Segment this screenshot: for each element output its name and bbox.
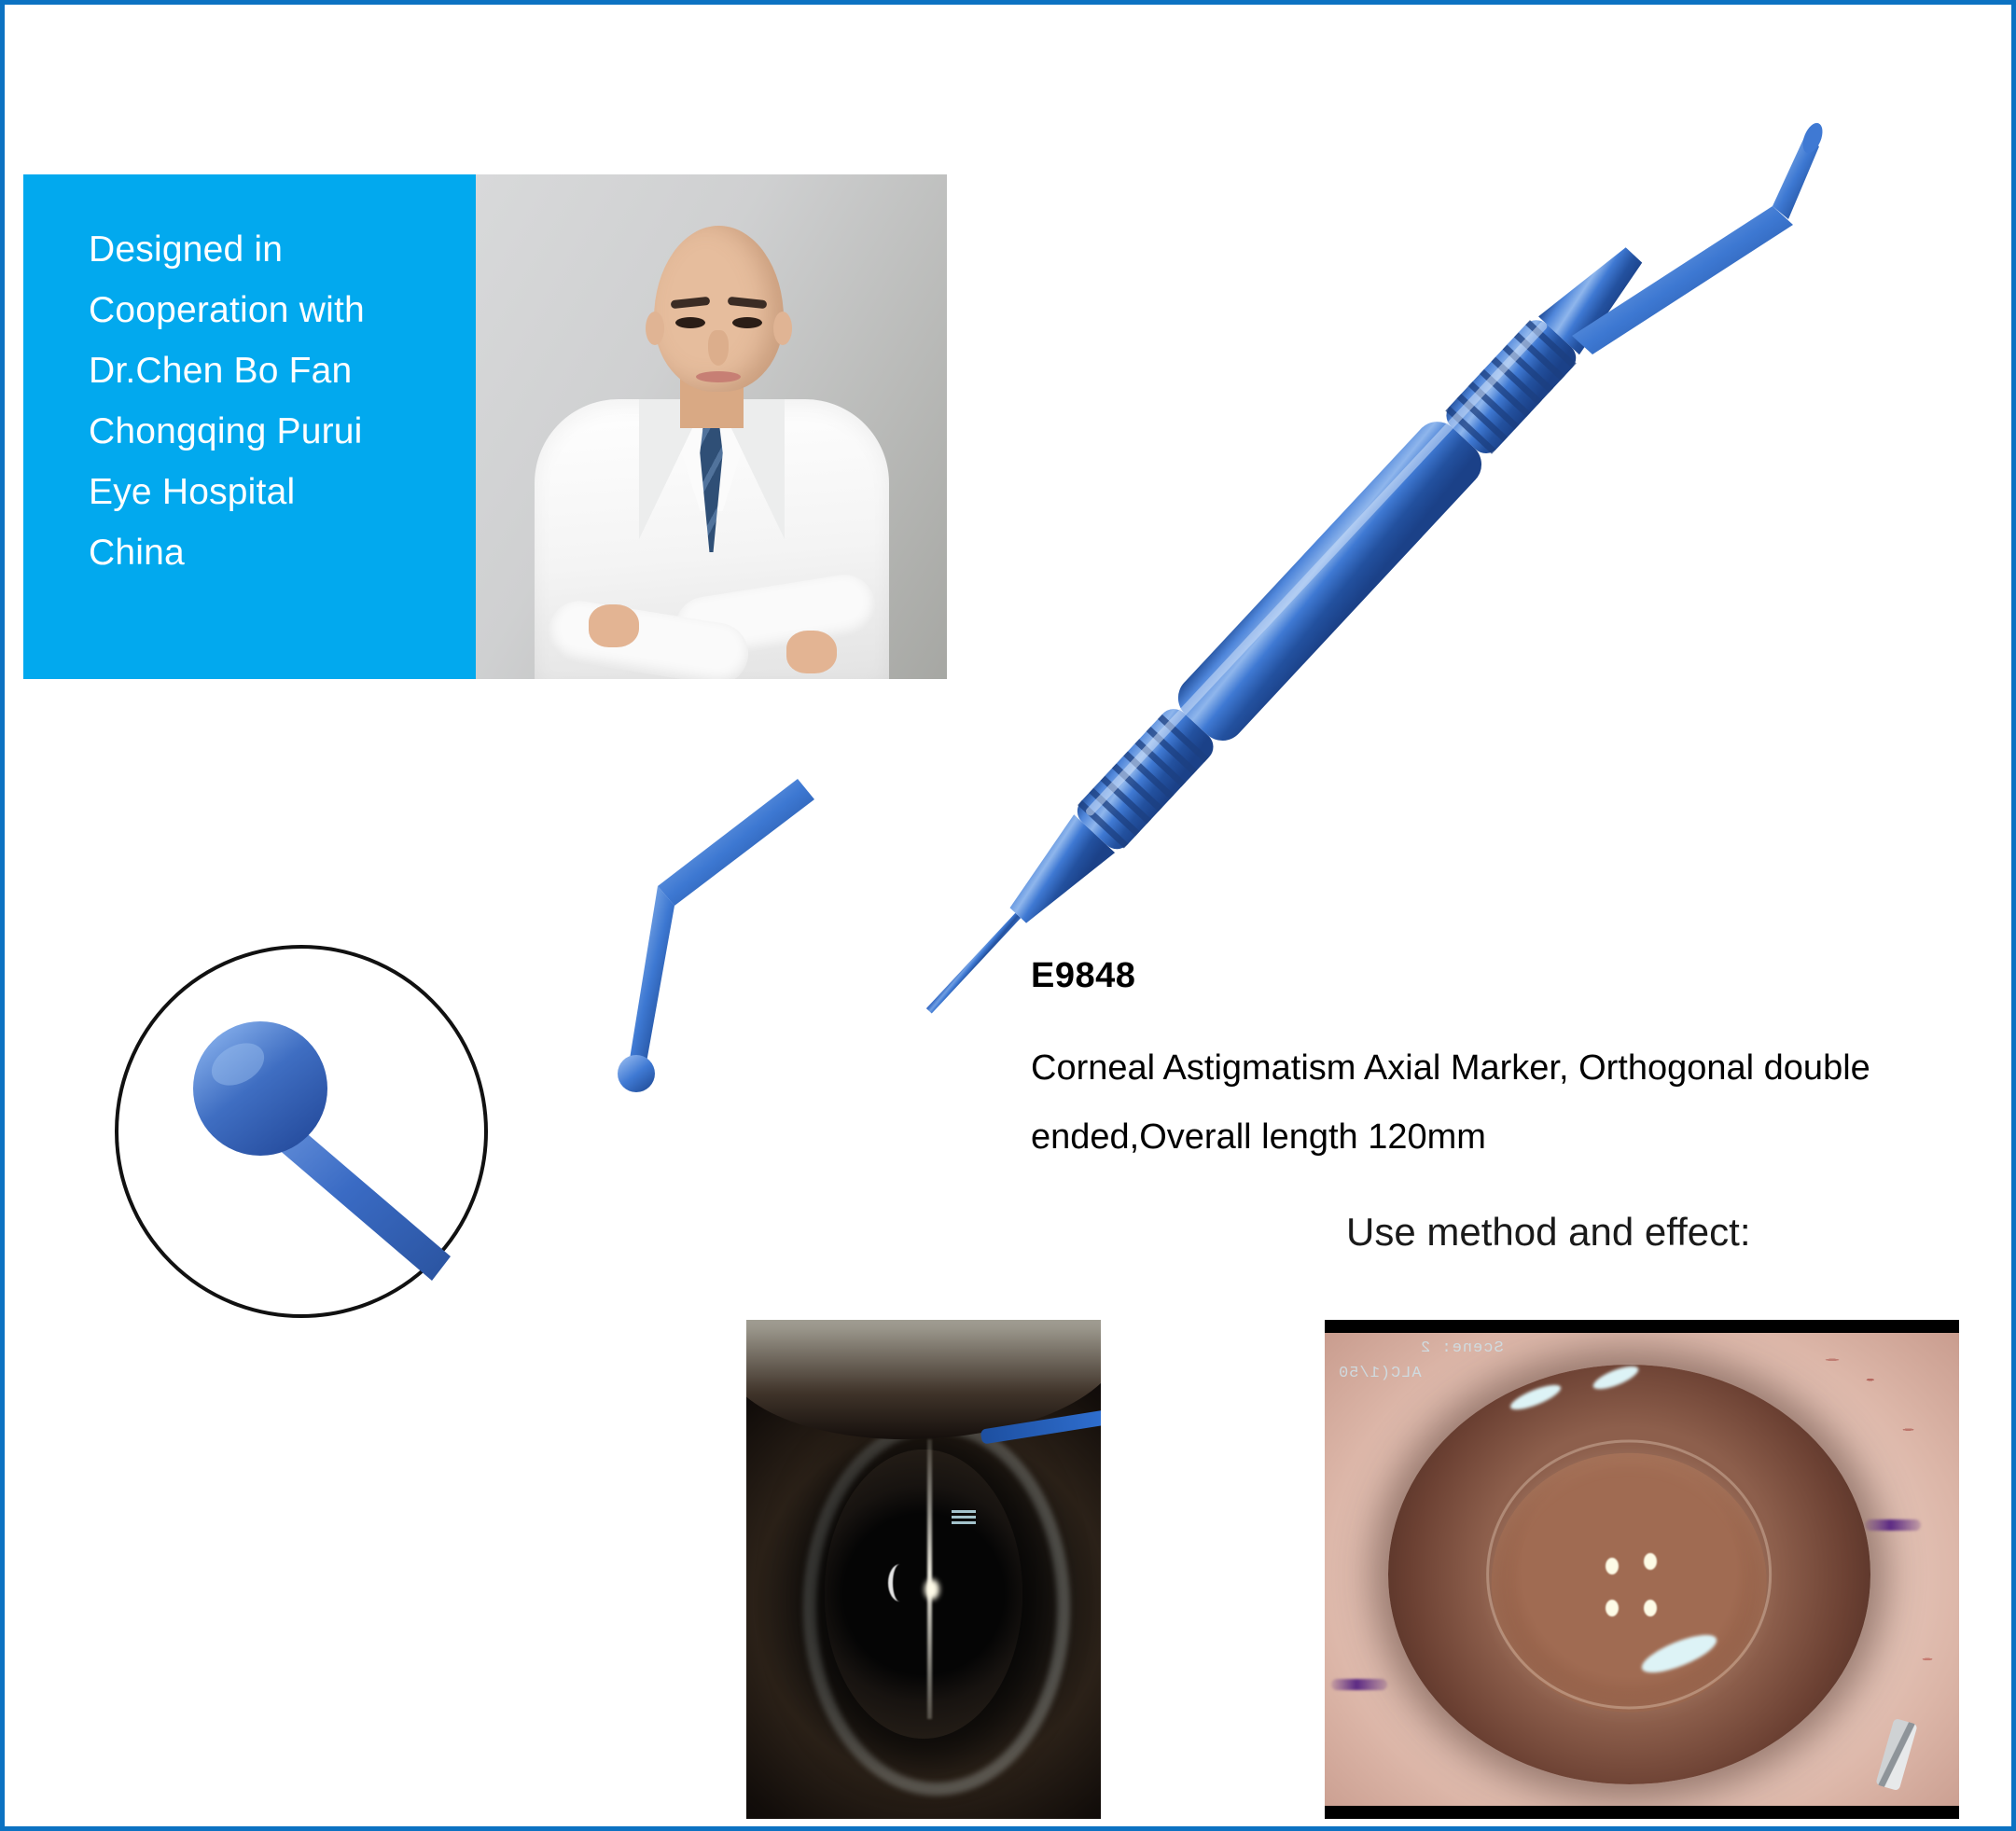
product-code: E9848 [1031, 956, 1982, 996]
credit-line-6: China [89, 522, 476, 583]
surgical-photo-slit-lamp [746, 1320, 1101, 1819]
microscope-eye-background: Scene: 2 ALC(1/50 [1325, 1320, 1959, 1819]
tip-detail-svg [118, 949, 484, 1314]
product-info-block: E9848 Corneal Astigmatism Axial Marker, … [1031, 956, 1982, 1172]
slit-beam-glow [925, 1579, 939, 1600]
cornea-iris [1388, 1365, 1870, 1783]
photo-letterbox-bottom [1325, 1806, 1959, 1819]
credit-line-4: Chongqing Purui [89, 401, 476, 462]
limbal-mark-left [1331, 1679, 1387, 1690]
axis-mark-ticks [952, 1509, 976, 1524]
credit-line-1: Designed in [89, 219, 476, 280]
product-description: Corneal Astigmatism Axial Marker, Orthog… [1031, 1033, 1982, 1172]
surgical-photo-microscope: Scene: 2 ALC(1/50 [1325, 1320, 1959, 1819]
use-method-heading: Use method and effect: [1346, 1210, 1751, 1255]
corneal-arc-reflection [888, 1564, 911, 1602]
iol-capsulorhexis-edge [1487, 1439, 1773, 1709]
limbal-mark-right [1865, 1519, 1921, 1531]
credit-line-2: Cooperation with [89, 280, 476, 340]
photo-letterbox-top [1325, 1320, 1959, 1333]
eye-iris-pupil [825, 1450, 1023, 1739]
iol-alignment-dot-4 [1644, 1600, 1657, 1616]
credit-line-5: Eye Hospital [89, 462, 476, 522]
product-catalog-page: Designed in Cooperation with Dr.Chen Bo … [0, 0, 2016, 1831]
overlay-scene-label: Scene: 2 [1420, 1339, 1504, 1357]
overlay-alc-label: ALC(1/50 [1338, 1365, 1422, 1382]
doctor-credit-panel: Designed in Cooperation with Dr.Chen Bo … [23, 174, 476, 679]
credit-line-3: Dr.Chen Bo Fan [89, 340, 476, 401]
iol-alignment-dot-3 [1606, 1600, 1619, 1616]
iol-alignment-dot-1 [1606, 1558, 1619, 1574]
tip-detail-inset [115, 945, 488, 1318]
